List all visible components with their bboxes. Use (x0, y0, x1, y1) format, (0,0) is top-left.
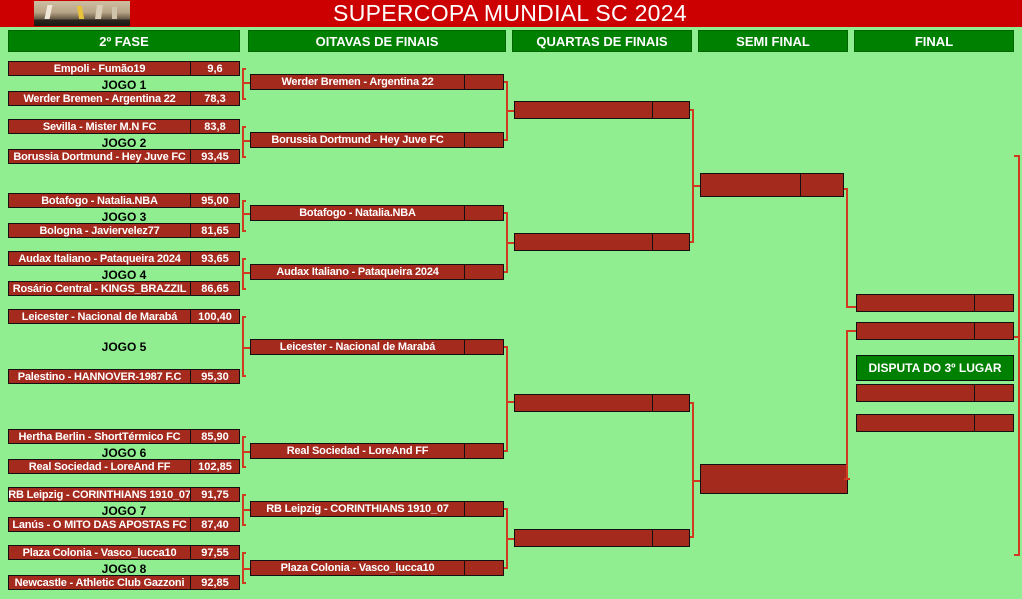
bracket-connector (242, 213, 250, 215)
third-place-header: DISPUTA DO 3º LUGAR (856, 355, 1014, 381)
bracket-connector (242, 200, 244, 231)
game-label: JOGO 2 (8, 136, 240, 150)
match-slot[interactable]: Plaza Colonia - Vasco_lucca10 97,55 (8, 545, 240, 560)
bracket-connector (504, 139, 508, 141)
game-label: JOGO 7 (8, 504, 240, 518)
team-score (974, 385, 1013, 401)
team-score: 87,40 (190, 518, 239, 531)
team-name (857, 295, 974, 311)
team-score (464, 561, 503, 575)
team-name: Werder Bremen - Argentina 22 (9, 92, 190, 105)
match-slot[interactable] (700, 464, 848, 494)
team-score: 97,55 (190, 546, 239, 559)
bracket-connector (506, 401, 514, 403)
bracket-connector (242, 494, 246, 496)
game-label: JOGO 3 (8, 210, 240, 224)
round-header-segunda-fase: 2º FASE (8, 30, 240, 52)
match-slot[interactable]: Bologna - Javiervelez77 81,65 (8, 223, 240, 238)
team-score (974, 415, 1013, 431)
team-name: Leicester - Nacional de Marabá (251, 340, 464, 354)
bracket-connector (504, 212, 508, 214)
match-slot[interactable] (514, 233, 690, 251)
bracket-connector (504, 271, 508, 273)
bracket-connector (690, 241, 694, 243)
tournament-logo-image (34, 1, 130, 26)
team-score (464, 265, 503, 279)
team-name: Hertha Berlin - ShortTérmico FC (9, 430, 190, 443)
team-score (652, 102, 689, 118)
bracket-connector (1014, 336, 1020, 338)
team-name: RB Leipzig - CORINTHIANS 1910_07 (251, 502, 464, 516)
match-slot[interactable]: Real Sociedad - LoreAnd FF (250, 443, 504, 459)
team-score: 85,90 (190, 430, 239, 443)
bracket-connector (506, 346, 508, 450)
team-name: Rosário Central - KINGS_BRAZZIL (9, 282, 190, 295)
game-label: JOGO 6 (8, 446, 240, 460)
team-name (515, 395, 652, 411)
bracket-connector (506, 242, 514, 244)
bracket-connector (242, 316, 244, 376)
team-name: Real Sociedad - LoreAnd FF (251, 444, 464, 458)
game-label: JOGO 8 (8, 562, 240, 576)
bracket-connector (690, 402, 694, 404)
team-score: 91,75 (190, 488, 239, 501)
bracket-connector (242, 509, 250, 511)
team-name: Borussia Dortmund - Hey Juve FC (9, 150, 190, 163)
bracket-connector (506, 538, 514, 540)
bracket-connector (504, 346, 508, 348)
round-header-semi: SEMI FINAL (698, 30, 848, 52)
bracket-connector (242, 466, 246, 468)
bracket-connector (242, 552, 246, 554)
bracket-connector (692, 402, 694, 537)
team-name: Werder Bremen - Argentina 22 (251, 75, 464, 89)
team-score: 83,8 (190, 120, 239, 133)
team-name (857, 385, 974, 401)
team-name (515, 102, 652, 118)
match-slot[interactable]: Sevilla - Mister M.N FC 83,8 (8, 119, 240, 134)
match-slot[interactable]: Leicester - Nacional de Marabá 100,40 (8, 309, 240, 324)
team-score (652, 234, 689, 250)
team-name: Newcastle - Athletic Club Gazzoni (9, 576, 190, 589)
third-place-slot[interactable] (856, 414, 1014, 432)
team-score: 92,85 (190, 576, 239, 589)
bracket-connector (844, 188, 848, 190)
match-slot[interactable]: Audax Italiano - Pataqueira 2024 (250, 264, 504, 280)
match-slot[interactable]: Botafogo - Natalia.NBA 95,00 (8, 193, 240, 208)
team-score (652, 395, 689, 411)
match-slot[interactable] (514, 101, 690, 119)
team-score (464, 340, 503, 354)
bracket-connector (242, 375, 246, 377)
bracket-connector (846, 306, 856, 308)
round-header-quartas: QUARTAS DE FINAIS (512, 30, 692, 52)
match-slot[interactable]: Borussia Dortmund - Hey Juve FC (250, 132, 504, 148)
team-name: Borussia Dortmund - Hey Juve FC (251, 133, 464, 147)
team-name: Bologna - Javiervelez77 (9, 224, 190, 237)
page-title: SUPERCOPA MUNDIAL SC 2024 (240, 0, 780, 27)
bracket-connector (242, 436, 246, 438)
bracket-connector (242, 200, 246, 202)
team-name: Plaza Colonia - Vasco_lucca10 (9, 546, 190, 559)
match-slot[interactable]: Borussia Dortmund - Hey Juve FC 93,45 (8, 149, 240, 164)
team-name (701, 465, 847, 493)
match-slot[interactable] (514, 394, 690, 412)
match-slot[interactable]: Palestino - HANNOVER-1987 F.C 95,30 (8, 369, 240, 384)
match-slot[interactable]: Leicester - Nacional de Marabá (250, 339, 504, 355)
match-slot[interactable]: Werder Bremen - Argentina 22 (250, 74, 504, 90)
bracket-connector (504, 508, 508, 510)
bracket-connector (242, 68, 246, 70)
bracket-connector (242, 258, 246, 260)
bracket-connector (242, 316, 246, 318)
title-bar: SUPERCOPA MUNDIAL SC 2024 (0, 0, 1022, 27)
logo-player-4 (112, 7, 117, 19)
match-slot[interactable]: Newcastle - Athletic Club Gazzoni 92,85 (8, 575, 240, 590)
team-name (701, 174, 800, 196)
team-name: RB Leipzig - CORINTHIANS 1910_07 (9, 488, 190, 501)
bracket-connector (844, 478, 850, 480)
team-name (515, 530, 652, 546)
bracket-connector (846, 330, 856, 332)
team-score (464, 444, 503, 458)
team-name: Lanús - O MITO DAS APOSTAS FC (9, 518, 190, 531)
bracket-connector (242, 451, 250, 453)
bracket-connector (242, 272, 250, 274)
bracket-connector (242, 288, 246, 290)
match-slot[interactable]: Real Sociedad - LoreAnd FF 102,85 (8, 459, 240, 474)
bracket-connector (1014, 554, 1020, 556)
team-name: Empoli - Fumão19 (9, 62, 190, 75)
bracket-connector (692, 109, 694, 242)
bracket-connector (242, 126, 246, 128)
match-slot[interactable]: Botafogo - Natalia.NBA (250, 205, 504, 221)
team-name: Botafogo - Natalia.NBA (251, 206, 464, 220)
bracket-connector (1018, 155, 1020, 555)
match-slot[interactable]: Audax Italiano - Pataqueira 2024 93,65 (8, 251, 240, 266)
bracket-connector (1014, 155, 1020, 157)
match-slot[interactable]: Rosário Central - KINGS_BRAZZIL 86,65 (8, 281, 240, 296)
match-slot[interactable]: RB Leipzig - CORINTHIANS 1910_07 91,75 (8, 487, 240, 502)
bracket-connector (846, 330, 848, 480)
team-score (974, 323, 1013, 339)
bracket-connector (504, 450, 508, 452)
team-name: Plaza Colonia - Vasco_lucca10 (251, 561, 464, 575)
bracket-connector (242, 230, 246, 232)
match-slot[interactable]: Plaza Colonia - Vasco_lucca10 (250, 560, 504, 576)
third-place-slot[interactable] (856, 384, 1014, 402)
bracket-connector (504, 81, 508, 83)
team-score: 93,45 (190, 150, 239, 163)
game-label: JOGO 4 (8, 268, 240, 282)
team-score: 9,6 (190, 62, 239, 75)
round-header-oitavas: OITAVAS DE FINAIS (248, 30, 506, 52)
bracket-connector (242, 82, 250, 84)
bracket-connector (242, 347, 250, 349)
team-score (652, 530, 689, 546)
round-header-final: FINAL (854, 30, 1014, 52)
team-score: 102,85 (190, 460, 239, 473)
team-score (464, 133, 503, 147)
bracket-connector (690, 109, 694, 111)
bracket-connector (242, 156, 246, 158)
logo-caption-strip (34, 20, 130, 26)
team-name (515, 234, 652, 250)
bracket-connector (242, 140, 250, 142)
final-slot[interactable] (856, 294, 1014, 312)
team-name: Audax Italiano - Pataqueira 2024 (251, 265, 464, 279)
match-slot[interactable] (514, 529, 690, 547)
bracket-connector (504, 567, 508, 569)
match-slot[interactable]: Werder Bremen - Argentina 22 78,3 (8, 91, 240, 106)
team-score: 100,40 (190, 310, 239, 323)
game-label: JOGO 5 (8, 340, 240, 354)
team-score: 93,65 (190, 252, 239, 265)
team-name: Palestino - HANNOVER-1987 F.C (9, 370, 190, 383)
game-label: JOGO 1 (8, 78, 240, 92)
team-score (974, 295, 1013, 311)
team-score: 86,65 (190, 282, 239, 295)
bracket-connector (242, 568, 250, 570)
match-slot[interactable]: Lanús - O MITO DAS APOSTAS FC 87,40 (8, 517, 240, 532)
team-score (464, 206, 503, 220)
team-score (464, 75, 503, 89)
bracket-connector (242, 98, 246, 100)
match-slot[interactable]: Empoli - Fumão19 9,6 (8, 61, 240, 76)
match-slot[interactable] (700, 173, 844, 197)
bracket-connector (690, 536, 694, 538)
bracket-connector (242, 524, 246, 526)
bracket-connector (242, 582, 246, 584)
team-name: Botafogo - Natalia.NBA (9, 194, 190, 207)
team-score: 95,30 (190, 370, 239, 383)
team-name (857, 323, 974, 339)
team-name (857, 415, 974, 431)
team-name: Real Sociedad - LoreAnd FF (9, 460, 190, 473)
match-slot[interactable]: RB Leipzig - CORINTHIANS 1910_07 (250, 501, 504, 517)
bracket-connector (506, 110, 514, 112)
team-score (464, 502, 503, 516)
team-name: Leicester - Nacional de Marabá (9, 310, 190, 323)
team-name: Sevilla - Mister M.N FC (9, 120, 190, 133)
team-score: 78,3 (190, 92, 239, 105)
match-slot[interactable]: Hertha Berlin - ShortTérmico FC 85,90 (8, 429, 240, 444)
team-score (800, 174, 843, 196)
team-score: 95,00 (190, 194, 239, 207)
final-slot[interactable] (856, 322, 1014, 340)
team-name: Audax Italiano - Pataqueira 2024 (9, 252, 190, 265)
bracket-connector (846, 188, 848, 308)
team-score: 81,65 (190, 224, 239, 237)
